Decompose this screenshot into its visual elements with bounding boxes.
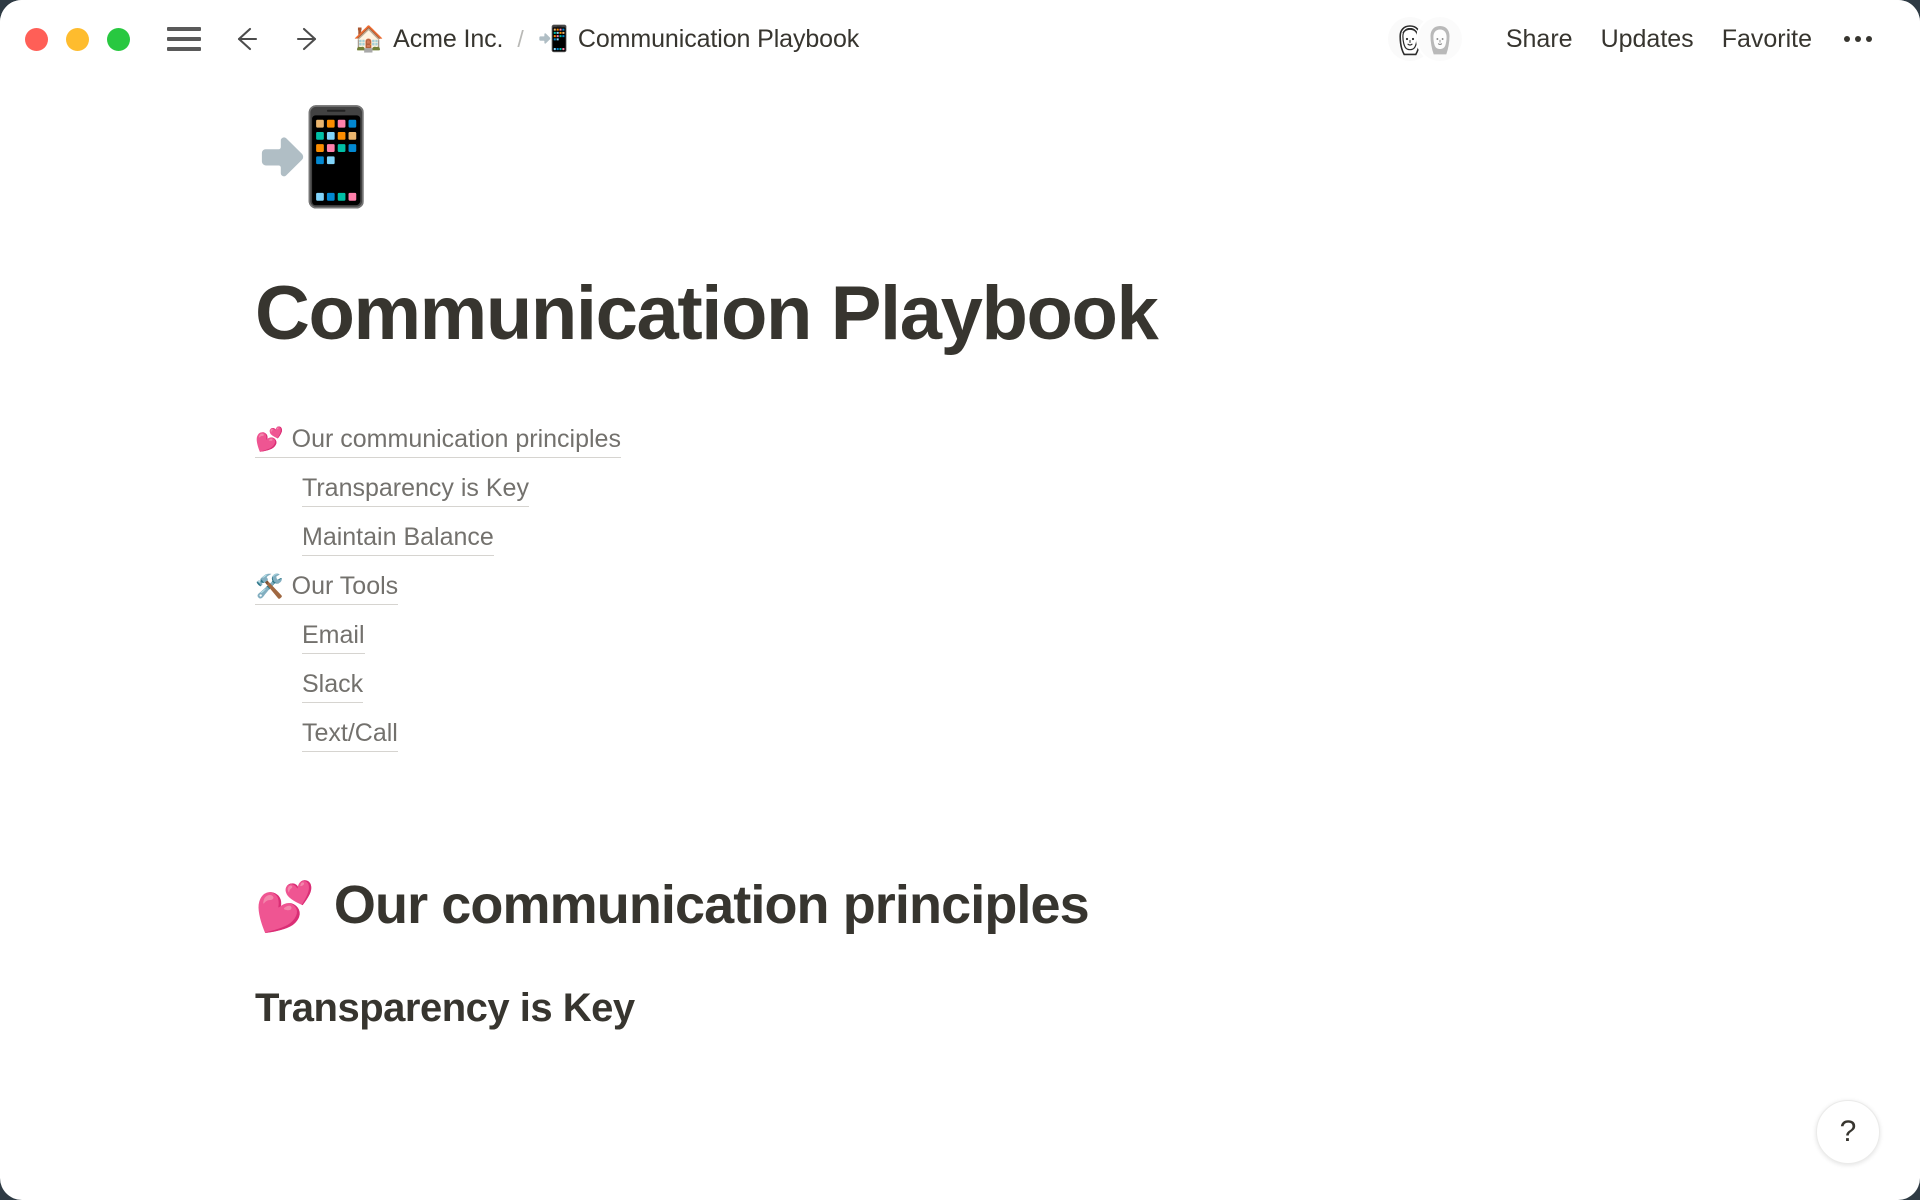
toc-link[interactable]: Email xyxy=(302,619,365,654)
more-options-icon[interactable] xyxy=(1832,26,1884,52)
toc-item-email[interactable]: Email xyxy=(255,612,1920,661)
toc-item-label: Our communication principles xyxy=(292,423,621,456)
breadcrumb-page-label: Communication Playbook xyxy=(578,25,859,54)
toc-item-label: Email xyxy=(302,619,365,652)
breadcrumb: 🏠 Acme Inc. / 📲 Communication Playbook xyxy=(347,21,865,58)
toc-item-text-call[interactable]: Text/Call xyxy=(255,710,1920,759)
hamburger-menu-icon[interactable] xyxy=(167,27,201,51)
toc-item-our-tools[interactable]: 🛠️ Our Tools xyxy=(255,563,1920,612)
minimize-window-button[interactable] xyxy=(66,28,89,51)
toc-item-label: Text/Call xyxy=(302,717,398,750)
updates-button[interactable]: Updates xyxy=(1587,19,1708,60)
toc-link[interactable]: Text/Call xyxy=(302,717,398,752)
two-hearts-emoji: 💕 xyxy=(255,428,284,451)
share-button[interactable]: Share xyxy=(1492,19,1587,60)
app-window: 🏠 Acme Inc. / 📲 Communication Playbook xyxy=(0,0,1920,1200)
page-title[interactable]: Communication Playbook xyxy=(255,274,1920,354)
toc-link[interactable]: 💕 Our communication principles xyxy=(255,423,621,458)
section-heading-our-communication-principles[interactable]: 💕 Our communication principles xyxy=(255,874,1920,936)
page-icon[interactable]: 📲 xyxy=(255,102,365,212)
favorite-button[interactable]: Favorite xyxy=(1708,19,1826,60)
two-hearts-emoji: 💕 xyxy=(255,884,314,932)
hamburger-line xyxy=(167,27,201,31)
arrow-left-icon[interactable] xyxy=(229,22,263,56)
toc-item-transparency-is-key[interactable]: Transparency is Key xyxy=(255,465,1920,514)
toc-item-label: Our Tools xyxy=(292,570,399,603)
window-controls xyxy=(25,28,130,51)
more-dot xyxy=(1866,36,1872,42)
breadcrumb-separator: / xyxy=(517,26,523,53)
toc-item-slack[interactable]: Slack xyxy=(255,661,1920,710)
table-of-contents: 💕 Our communication principles Transpare… xyxy=(255,416,1920,759)
avatar-group[interactable] xyxy=(1388,17,1462,61)
arrow-right-icon[interactable] xyxy=(291,22,325,56)
title-bar: 🏠 Acme Inc. / 📲 Communication Playbook xyxy=(0,0,1920,78)
page-content: 📲 Communication Playbook 💕 Our communica… xyxy=(0,78,1920,1200)
help-button[interactable]: ? xyxy=(1816,1100,1880,1164)
mobile-phone-with-arrow-emoji: 📲 xyxy=(538,27,569,52)
maximize-window-button[interactable] xyxy=(107,28,130,51)
breadcrumb-item-workspace[interactable]: 🏠 Acme Inc. xyxy=(347,21,509,58)
hamburger-line xyxy=(167,47,201,51)
more-dot xyxy=(1844,36,1850,42)
header-actions: Share Updates Favorite xyxy=(1388,17,1920,61)
toc-link[interactable]: 🛠️ Our Tools xyxy=(255,570,398,605)
breadcrumb-item-page[interactable]: 📲 Communication Playbook xyxy=(532,21,865,58)
toc-item-label: Slack xyxy=(302,668,363,701)
toc-link[interactable]: Maintain Balance xyxy=(302,521,494,556)
toc-link[interactable]: Slack xyxy=(302,668,363,703)
toc-item-maintain-balance[interactable]: Maintain Balance xyxy=(255,514,1920,563)
toc-item-label: Transparency is Key xyxy=(302,472,529,505)
section-heading-transparency-is-key[interactable]: Transparency is Key xyxy=(255,986,1920,1031)
toc-link[interactable]: Transparency is Key xyxy=(302,472,529,507)
close-window-button[interactable] xyxy=(25,28,48,51)
house-emoji: 🏠 xyxy=(353,27,384,52)
section-heading-label: Our communication principles xyxy=(334,874,1089,936)
more-dot xyxy=(1855,36,1861,42)
hammer-and-wrench-emoji: 🛠️ xyxy=(255,575,284,598)
toc-item-label: Maintain Balance xyxy=(302,521,494,554)
avatar-user-2[interactable] xyxy=(1418,17,1462,61)
hamburger-line xyxy=(167,37,201,41)
toc-item-our-communication-principles[interactable]: 💕 Our communication principles xyxy=(255,416,1920,465)
breadcrumb-workspace-label: Acme Inc. xyxy=(393,25,503,54)
